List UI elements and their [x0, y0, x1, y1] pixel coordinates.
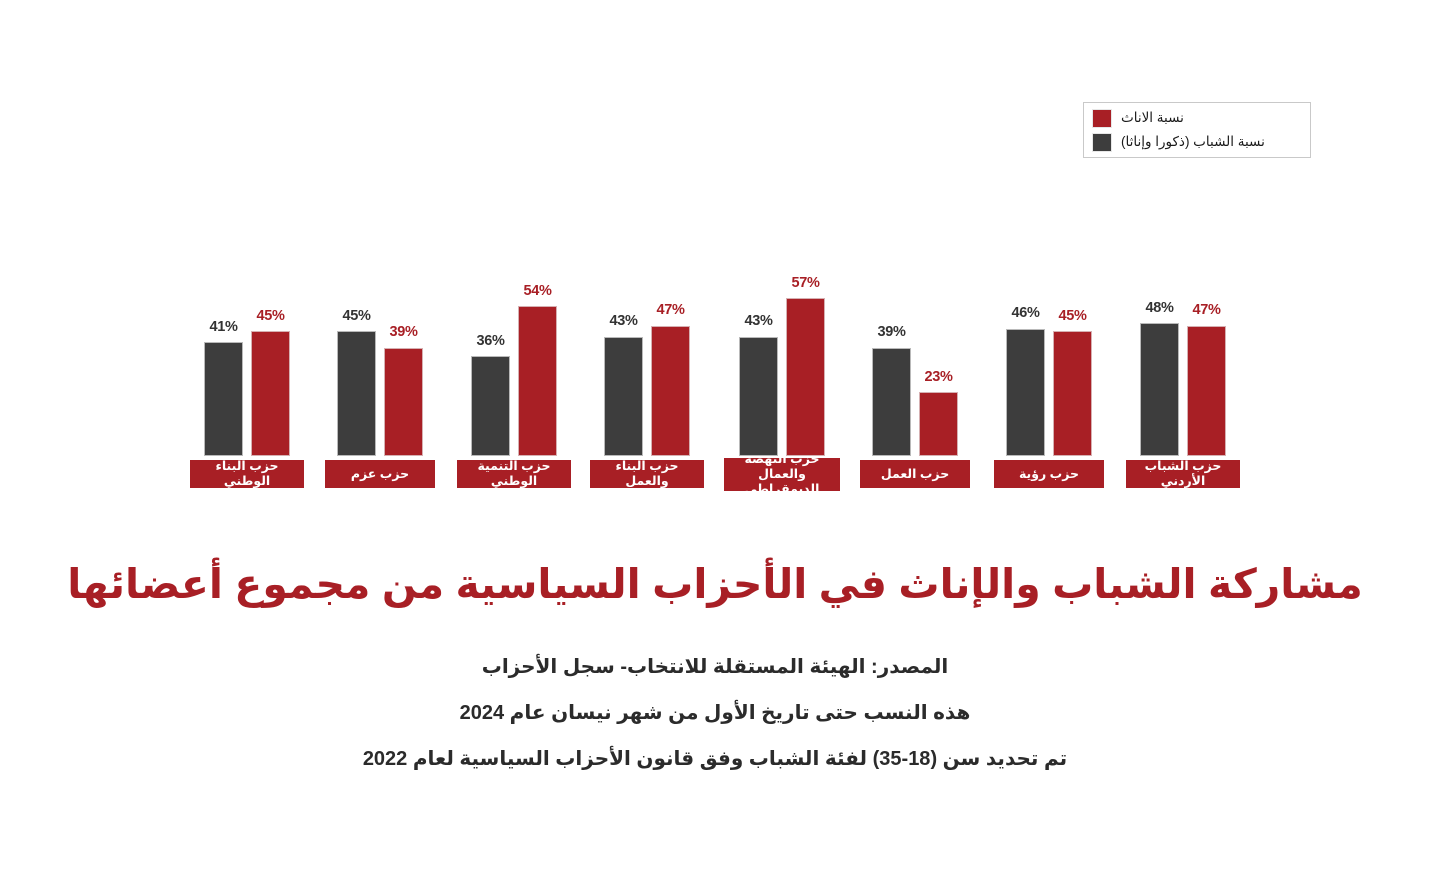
- bar-rect-female: [919, 392, 958, 456]
- category-label: حزب العمل: [860, 460, 970, 488]
- bar-value-label-youth: 46%: [991, 306, 1061, 321]
- bar-value-label-female: 54%: [503, 284, 573, 299]
- bar-group: 47%43%حزب البناء والعمل: [587, 0, 707, 530]
- bar-rect-youth: [471, 356, 510, 456]
- category-label: حزب النهضة والعمال الديمقراطي: [724, 458, 840, 491]
- bar-pair: 45%41%: [187, 256, 307, 456]
- category-label: حزب التنمية الوطني: [457, 460, 571, 488]
- bar-group: 47%48%حزب الشباب الأردني: [1123, 0, 1243, 530]
- bar-youth: 46%: [1006, 256, 1045, 456]
- bar-female: 45%: [251, 256, 290, 456]
- bar-female: 23%: [919, 256, 958, 456]
- note-source: المصدر: الهيئة المستقلة للانتخاب- سجل ال…: [0, 655, 1430, 679]
- bar-pair: 47%43%: [587, 256, 707, 456]
- bar-youth: 43%: [739, 256, 778, 456]
- bar-value-label-female: 57%: [771, 276, 841, 291]
- bar-rect-female: [1187, 326, 1226, 456]
- bar-value-label-youth: 41%: [189, 320, 259, 335]
- category-label: حزب البناء الوطني: [190, 460, 304, 488]
- note-age-definition: تم تحديد سن (18-35) لفئة الشباب وفق قانو…: [0, 747, 1430, 771]
- bar-value-label-female: 39%: [369, 325, 439, 340]
- bar-youth: 39%: [872, 256, 911, 456]
- bar-group: 45%46%حزب رؤية: [989, 0, 1109, 530]
- bar-pair: 57%43%: [722, 256, 842, 456]
- chart-figure: نسبة الاناث نسبة الشباب (ذكورا وإناثا) 4…: [0, 0, 1430, 883]
- bar-value-label-youth: 43%: [724, 314, 794, 329]
- bar-pair: 45%46%: [989, 256, 1109, 456]
- bar-pair: 23%39%: [855, 256, 975, 456]
- bar-rect-youth: [604, 337, 643, 456]
- bar-youth: 45%: [337, 256, 376, 456]
- bar-female: 47%: [1187, 256, 1226, 456]
- category-label: حزب الشباب الأردني: [1126, 460, 1240, 488]
- bar-group: 23%39%حزب العمل: [855, 0, 975, 530]
- bar-rect-female: [251, 331, 290, 456]
- category-label: حزب رؤية: [994, 460, 1104, 488]
- chart-title: مشاركة الشباب والإناث في الأحزاب السياسي…: [0, 560, 1430, 608]
- bar-value-label-youth: 45%: [322, 309, 392, 324]
- bar-female: 57%: [786, 256, 825, 456]
- chart-notes: المصدر: الهيئة المستقلة للانتخاب- سجل ال…: [0, 655, 1430, 793]
- bar-rect-youth: [1140, 323, 1179, 456]
- bar-female: 47%: [651, 256, 690, 456]
- bar-value-label-youth: 48%: [1125, 301, 1195, 316]
- bar-rect-female: [384, 348, 423, 456]
- bar-rect-female: [518, 306, 557, 456]
- bar-female: 54%: [518, 256, 557, 456]
- bar-rect-youth: [204, 342, 243, 456]
- bar-female: 45%: [1053, 256, 1092, 456]
- bar-rect-youth: [337, 331, 376, 456]
- bar-pair: 47%48%: [1123, 256, 1243, 456]
- bar-female: 39%: [384, 256, 423, 456]
- bar-youth: 41%: [204, 256, 243, 456]
- bar-pair: 39%45%: [320, 256, 440, 456]
- bar-group: 57%43%حزب النهضة والعمال الديمقراطي: [722, 0, 842, 530]
- category-label: حزب عزم: [325, 460, 435, 488]
- bar-youth: 48%: [1140, 256, 1179, 456]
- bar-rect-youth: [1006, 329, 1045, 456]
- bar-value-label-youth: 43%: [589, 314, 659, 329]
- bar-value-label-youth: 36%: [456, 334, 526, 349]
- bar-rect-female: [1053, 331, 1092, 456]
- bar-pair: 54%36%: [454, 256, 574, 456]
- bar-value-label-youth: 39%: [857, 325, 927, 340]
- bar-group: 45%41%حزب البناء الوطني: [187, 0, 307, 530]
- category-label: حزب البناء والعمل: [590, 460, 704, 488]
- bar-youth: 36%: [471, 256, 510, 456]
- bar-youth: 43%: [604, 256, 643, 456]
- bar-rect-female: [651, 326, 690, 456]
- bar-rect-youth: [872, 348, 911, 456]
- bar-group: 39%45%حزب عزم: [320, 0, 440, 530]
- chart-plot-area: 45%41%حزب البناء الوطني39%45%حزب عزم54%3…: [0, 0, 1430, 530]
- bar-value-label-female: 23%: [904, 370, 974, 385]
- note-date: هذه النسب حتى تاريخ الأول من شهر نيسان ع…: [0, 701, 1430, 725]
- bar-group: 54%36%حزب التنمية الوطني: [454, 0, 574, 530]
- bar-rect-youth: [739, 337, 778, 456]
